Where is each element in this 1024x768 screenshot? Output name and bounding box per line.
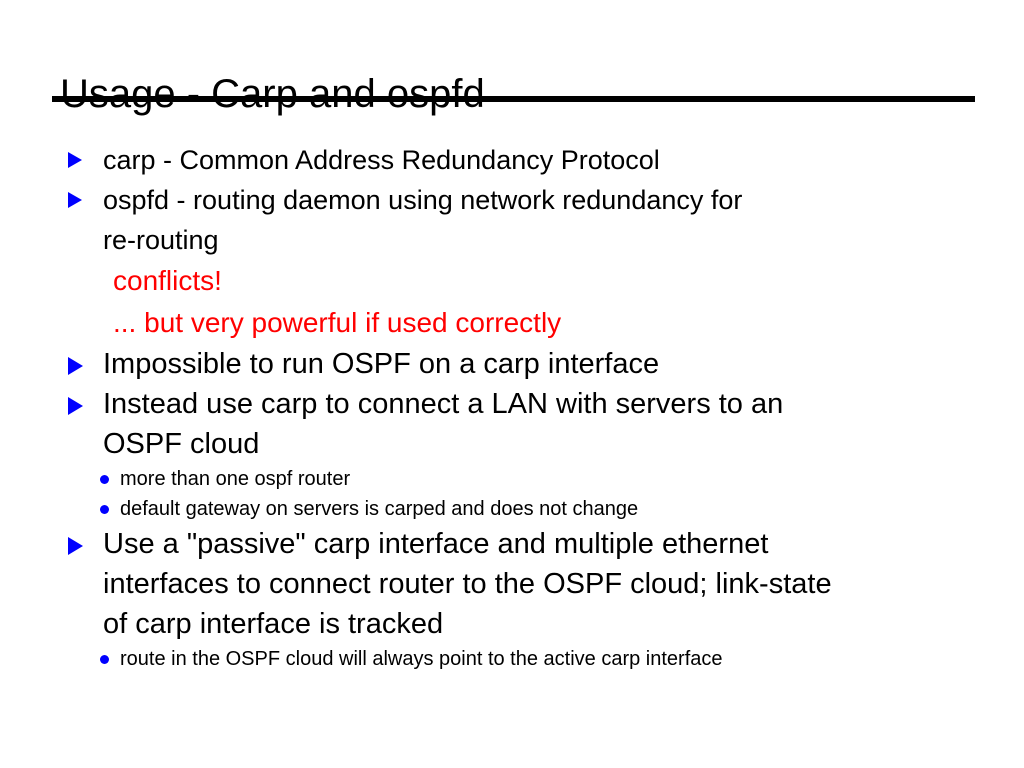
bullet-item: Instead use carp to connect a LAN with s… <box>0 384 1024 424</box>
sub-bullet-item: default gateway on servers is carped and… <box>0 494 1024 524</box>
blue-triangle-bullet-icon <box>68 357 83 375</box>
bullet-text: Instead use carp to connect a LAN with s… <box>103 388 783 420</box>
bullet-text: of carp interface is tracked <box>103 608 443 640</box>
blue-dot-bullet-icon <box>100 475 109 484</box>
bullet-continuation-line: interfaces to connect router to the OSPF… <box>0 564 1024 604</box>
blue-dot-bullet-icon <box>100 655 109 664</box>
emphasis-text: ... but very powerful if used correctly <box>113 307 561 338</box>
emphasis-text: conflicts! <box>113 265 222 296</box>
presentation-slide: Usage - Carp and ospfd carp - Common Add… <box>0 0 1024 768</box>
page-title: Usage - Carp and ospfd <box>60 71 485 117</box>
bullet-text: OSPF cloud <box>103 428 259 460</box>
bullet-item: Use a "passive" carp interface and multi… <box>0 524 1024 564</box>
sub-bullet-item: route in the OSPF cloud will always poin… <box>0 644 1024 674</box>
bullet-continuation-line: OSPF cloud <box>0 424 1024 464</box>
bullet-item: carp - Common Address Redundancy Protoco… <box>0 140 1024 180</box>
blue-triangle-bullet-icon <box>68 152 82 168</box>
blue-triangle-bullet-icon <box>68 397 83 415</box>
bullet-text: carp - Common Address Redundancy Protoco… <box>103 145 660 175</box>
blue-dot-bullet-icon <box>100 505 109 514</box>
bullet-continuation-line: of carp interface is tracked <box>0 604 1024 644</box>
slide-body: carp - Common Address Redundancy Protoco… <box>0 140 1024 674</box>
bullet-text: interfaces to connect router to the OSPF… <box>103 568 832 600</box>
sub-bullet-text: default gateway on servers is carped and… <box>120 498 638 520</box>
blue-triangle-bullet-icon <box>68 192 82 208</box>
emphasis-line: ... but very powerful if used correctly <box>0 302 1024 344</box>
blue-triangle-bullet-icon <box>68 537 83 555</box>
bullet-text: re-routing <box>103 225 219 255</box>
bullet-text: Impossible to run OSPF on a carp interfa… <box>103 348 659 380</box>
bullet-text: Use a "passive" carp interface and multi… <box>103 528 768 560</box>
emphasis-line: conflicts! <box>0 260 1024 302</box>
sub-bullet-item: more than one ospf router <box>0 464 1024 494</box>
title-underline-rule <box>52 96 975 102</box>
bullet-item: Impossible to run OSPF on a carp interfa… <box>0 344 1024 384</box>
bullet-text: ospfd - routing daemon using network red… <box>103 185 742 215</box>
sub-bullet-text: more than one ospf router <box>120 468 350 490</box>
sub-bullet-text: route in the OSPF cloud will always poin… <box>120 648 723 670</box>
bullet-item: ospfd - routing daemon using network red… <box>0 180 1024 220</box>
bullet-continuation-line: re-routing <box>0 220 1024 260</box>
